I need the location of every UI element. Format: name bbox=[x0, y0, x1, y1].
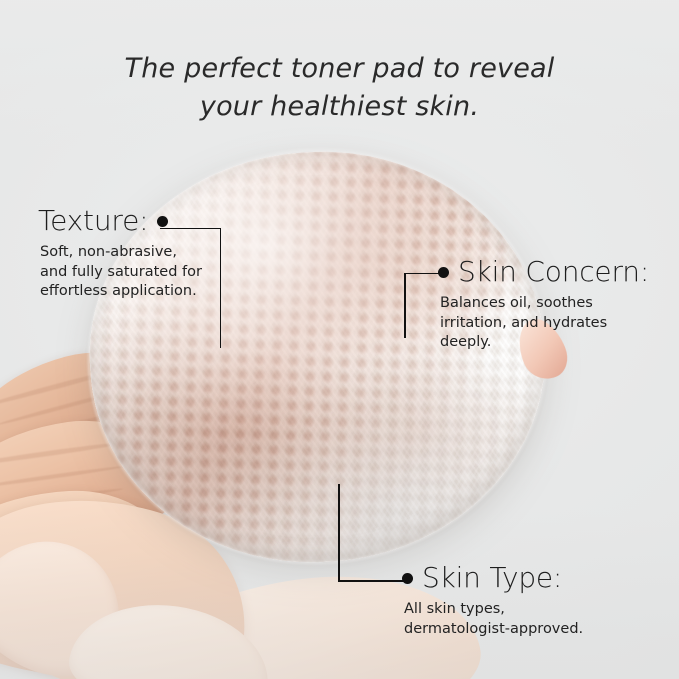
callout-skin-concern-body: Balances oil, soothes irritation, and hy… bbox=[440, 294, 649, 353]
headline-line-1: The perfect toner pad to reveal bbox=[0, 50, 679, 88]
product-image-canvas: The perfect toner pad to reveal your hea… bbox=[0, 0, 679, 679]
callout-texture-title-row: Texture: bbox=[38, 205, 202, 237]
leader-line-texture-vertical bbox=[220, 228, 222, 348]
callout-texture-label: Texture: bbox=[38, 205, 148, 237]
callout-skin-concern-title-row: Skin Concern: bbox=[438, 256, 649, 288]
callout-skin-type-label: Skin Type: bbox=[422, 562, 562, 594]
leader-line-skin-type-vertical bbox=[338, 484, 340, 581]
callout-skin-concern-label: Skin Concern: bbox=[458, 256, 649, 288]
headline-line-2: your healthiest skin. bbox=[0, 88, 679, 126]
callout-texture-body: Soft, non-abrasive, and fully saturated … bbox=[40, 243, 202, 302]
bullet-dot-icon bbox=[157, 216, 168, 227]
callout-skin-concern: Skin Concern: Balances oil, soothes irri… bbox=[438, 256, 649, 353]
callout-skin-type-body: All skin types, dermatologist-approved. bbox=[404, 600, 583, 639]
leader-line-skin-concern-vertical bbox=[404, 273, 406, 338]
bullet-dot-icon bbox=[438, 267, 449, 278]
callout-texture: Texture: Soft, non-abrasive, and fully s… bbox=[38, 205, 202, 302]
callout-skin-type: Skin Type: All skin types, dermatologist… bbox=[402, 562, 583, 639]
page-title: The perfect toner pad to reveal your hea… bbox=[0, 50, 679, 126]
bullet-dot-icon bbox=[402, 573, 413, 584]
leader-line-skin-type-horizontal bbox=[338, 580, 410, 582]
callout-skin-type-title-row: Skin Type: bbox=[402, 562, 583, 594]
